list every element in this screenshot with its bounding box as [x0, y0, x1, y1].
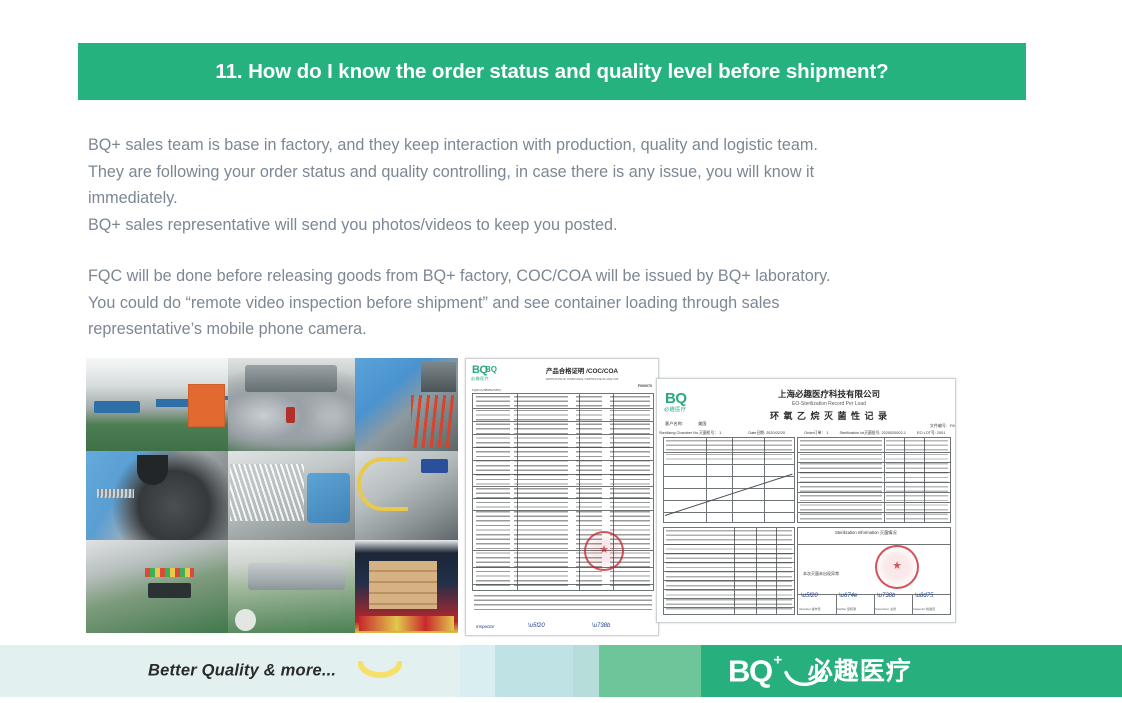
- doc-coc-logo-plus: BQ: [485, 365, 497, 374]
- footer-band-3: [495, 645, 573, 697]
- photo-hose-machine: [355, 451, 458, 540]
- paragraph-block-2: FQC will be done before releasing goods …: [88, 263, 1038, 343]
- doc-ster-meta-row: Sterilizing Chamber No.灭菌柜号： 1 Date日期: 2…: [659, 431, 945, 436]
- paragraph-1-line-3: immediately.: [88, 185, 1038, 212]
- photo-operator-rotary: [86, 451, 228, 540]
- paragraph-1-line-4: BQ+ sales representative will send you p…: [88, 212, 1038, 239]
- doc-coc-left-labels: [476, 396, 510, 589]
- slide-footer: Better Quality & more... BQ + 必趣医疗: [0, 645, 1122, 697]
- doc-ster-number: F0003: [950, 423, 956, 428]
- paragraph-1-line-2: They are following your order status and…: [88, 159, 1038, 186]
- doc-ster-operation-text: [666, 530, 792, 612]
- doc-ster-info-header: Sterilization Information 灭菌情况: [835, 530, 897, 536]
- doc-ster-number-label: 文件编号:: [930, 423, 947, 429]
- doc-ster-sig-label-verifier: Verifier 复核者: [837, 607, 856, 611]
- photo-control-console: [86, 540, 228, 633]
- smile-arc-icon: [358, 661, 402, 683]
- photo-assembly-line: [86, 358, 228, 451]
- paragraph-block-1: BQ+ sales team is base in factory, and t…: [88, 132, 1038, 238]
- doc-ster-company: 上海必趣医疗科技有限公司: [749, 389, 909, 400]
- footer-logo-plus-icon: +: [773, 653, 780, 668]
- doc-coc-number: F000070: [638, 384, 652, 388]
- paragraph-2-line-1: FQC will be done before releasing goods …: [88, 263, 1038, 290]
- doc-ster-parameter-values: [886, 440, 948, 522]
- media-row: BQ BQ 必趣医疗 产品合格证明 /COC/COA CERTIFICATE O…: [86, 358, 956, 636]
- photo-collage: [86, 358, 458, 633]
- doc-coc-signature-reviewer: \u5f20: [528, 623, 545, 629]
- photo-parts-inspection: [228, 451, 355, 540]
- doc-ster-signature-inspector: \u8d75: [915, 593, 933, 599]
- doc-coc-footnote: [474, 595, 652, 611]
- slide-canvas: 11. How do I know the order status and q…: [0, 0, 1122, 703]
- doc-ster-logo-cn: 必趣医疗: [664, 406, 686, 413]
- doc-ster-title-cn: 环 氧 乙 烷 灭 菌 性 记 录: [749, 411, 909, 422]
- photo-worker-wires: [355, 358, 458, 451]
- doc-eo-sterilization-record: BQ 必趣医疗 上海必趣医疗科技有限公司 EO-Sterilization Re…: [656, 378, 956, 623]
- doc-ster-meta-customer: 客户名称: 美国: [665, 421, 706, 427]
- bottom-strip: [0, 697, 1122, 703]
- logo-swoosh-icon: [784, 669, 826, 691]
- photo-conveyor-packaging: [228, 540, 355, 633]
- doc-coc-title-cn: 产品合格证明 /COC/COA: [512, 368, 652, 376]
- doc-coc-red-stamp: [584, 531, 624, 571]
- footer-band-5: [599, 645, 701, 697]
- footer-band-2: [460, 645, 495, 697]
- doc-ster-red-stamp: [875, 545, 919, 589]
- doc-ster-product-text: [666, 440, 792, 462]
- footer-logo: BQ + 必趣医疗: [728, 656, 912, 687]
- doc-ster-logo: BQ: [665, 391, 687, 406]
- footer-logo-mark: BQ +: [728, 656, 772, 687]
- footer-tagline: Better Quality & more...: [148, 662, 336, 681]
- doc-coc-form-code: FQRC(\u8868\u5355): [472, 388, 501, 392]
- doc-coc-signature-inspector: Inspector: [476, 625, 495, 630]
- page-title: 11. How do I know the order status and q…: [215, 60, 888, 84]
- doc-coc-coa: BQ BQ 必趣医疗 产品合格证明 /COC/COA CERTIFICATE O…: [465, 358, 659, 636]
- doc-ster-sig-label-supervisor: Supervisor 主管: [875, 607, 896, 611]
- paragraph-2-line-2: You could do “remote video inspection be…: [88, 290, 1038, 317]
- doc-coc-signature-approver: \u738b: [592, 623, 610, 629]
- doc-ster-signature-operator: \u5f20: [801, 593, 818, 599]
- photo-pallet-container: [355, 540, 458, 633]
- doc-ster-title-en: EO-Sterilization Record Per Load: [749, 401, 909, 407]
- doc-ster-signature-supervisor: \u738b: [877, 593, 895, 599]
- doc-ster-sig-label-inspector: Inspector 检验员: [913, 607, 935, 611]
- doc-ster-parameter-text: [800, 440, 882, 522]
- doc-coc-mid-values: [514, 396, 568, 589]
- paragraph-1-line-1: BQ+ sales team is base in factory, and t…: [88, 132, 1038, 159]
- doc-ster-sig-label-operator: Operator 操作员: [799, 607, 821, 611]
- doc-coc-logo-cn: 必趣医疗: [471, 376, 489, 382]
- slide-title-banner: 11. How do I know the order status and q…: [78, 43, 1026, 100]
- paragraph-2-line-3: representative’s mobile phone camera.: [88, 316, 1038, 343]
- footer-band-4: [573, 645, 599, 697]
- doc-coc-title-en: CERTIFICATE OF COMPLIANCE / CERTIFICATE …: [512, 378, 652, 381]
- doc-ster-signature-verifier: \u674e: [839, 593, 857, 599]
- doc-ster-info-note: 本次灭菌未出现异常: [803, 571, 839, 577]
- photo-machinery: [228, 358, 355, 451]
